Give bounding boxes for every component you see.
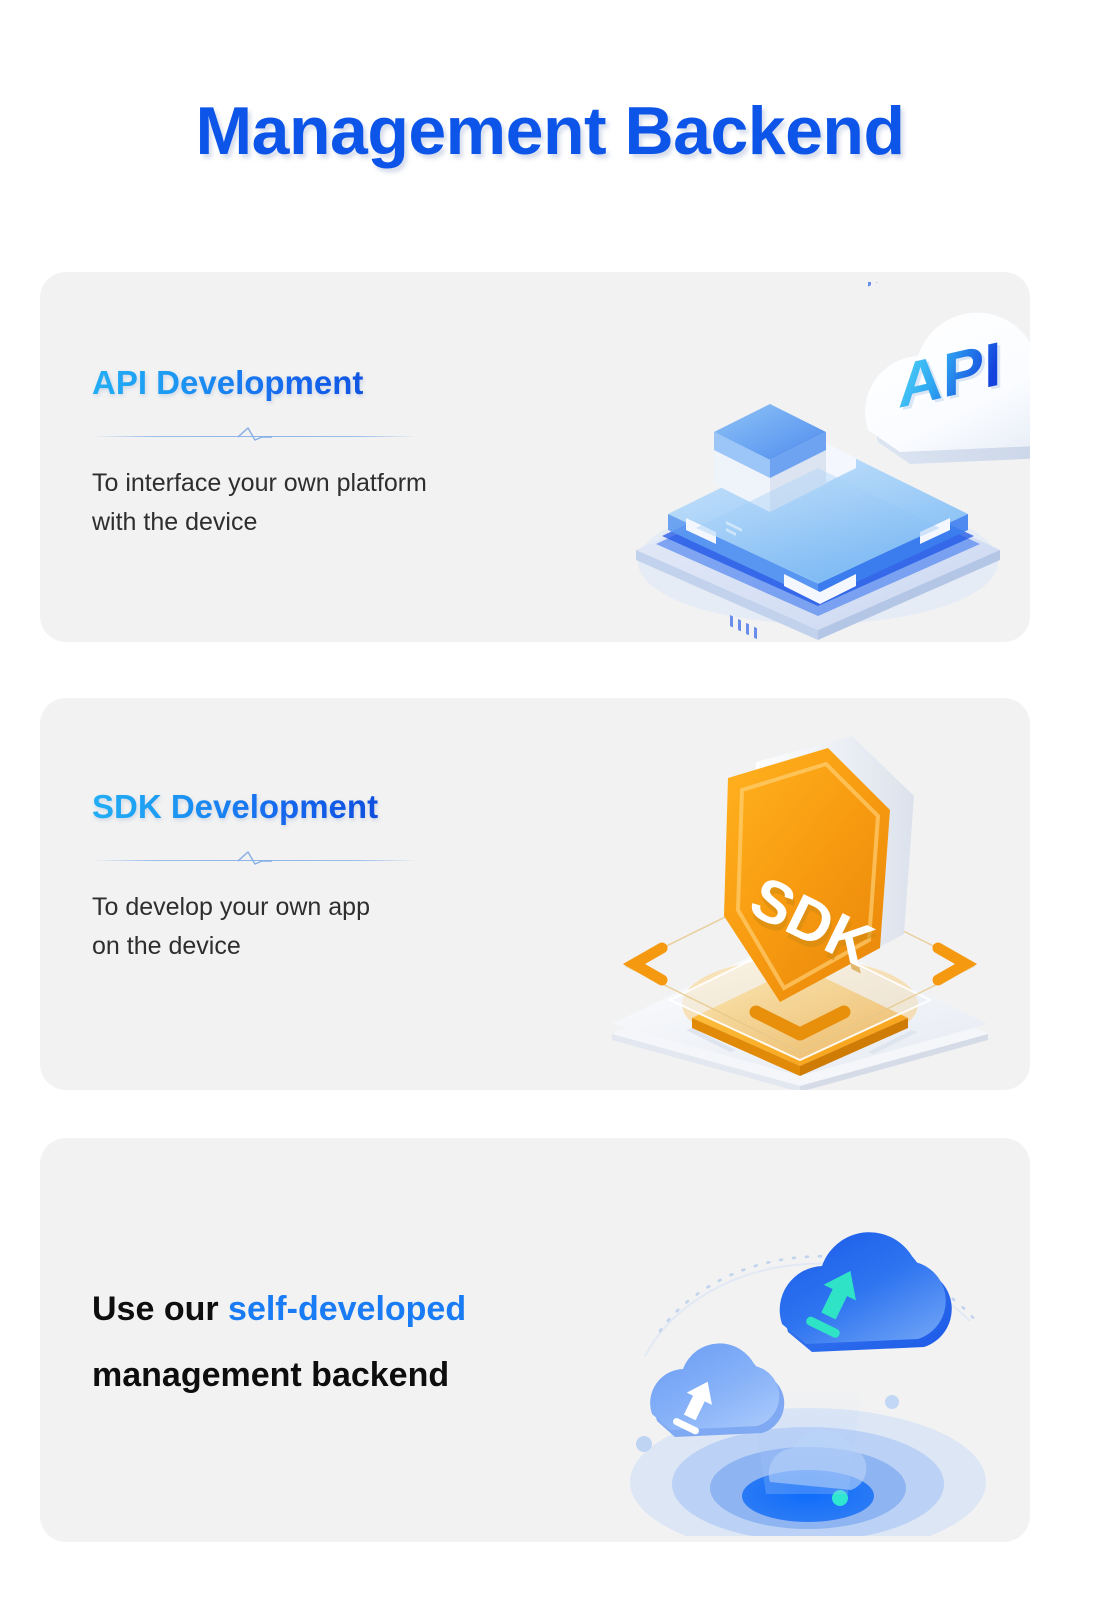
right-angle-bracket-icon xyxy=(938,948,966,980)
card-sdk-text-block: SDK Development To develop your own app … xyxy=(92,788,417,967)
card-sdk-body: To develop your own app on the device xyxy=(92,888,417,967)
zigzag-divider-icon xyxy=(238,424,272,447)
api-cloud-chip-illustration: API API xyxy=(568,282,1030,642)
card-api-body: To interface your own platform with the … xyxy=(92,464,427,543)
cloud-upload-large xyxy=(780,1232,952,1352)
feature-card-sdk[interactable]: SDK Development To develop your own app … xyxy=(40,698,1030,1090)
page-title: Management Backend xyxy=(0,92,1100,170)
card-backend-text-block: Use our self-developed management backen… xyxy=(92,1276,466,1409)
left-angle-bracket-icon xyxy=(634,948,662,980)
card-backend-line-1: Use our self-developed xyxy=(92,1276,466,1342)
card-api-text-block: API Development To interface your own pl… xyxy=(92,364,427,543)
card-api-divider xyxy=(92,424,417,442)
cloud-upload-small xyxy=(650,1343,784,1437)
card-sdk-divider xyxy=(92,848,417,866)
card-backend-line1-plain: Use our xyxy=(92,1290,228,1328)
sdk-hexagon-badge-illustration: SDK SDK xyxy=(590,704,1010,1090)
card-backend-line-2: management backend xyxy=(92,1342,466,1408)
feature-card-backend[interactable]: Use our self-developed management backen… xyxy=(40,1138,1030,1542)
feature-card-api[interactable]: API Development To interface your own pl… xyxy=(40,272,1030,642)
card-api-heading: API Development xyxy=(92,364,427,402)
card-backend-line1-highlight: self-developed xyxy=(228,1290,466,1328)
cloud-upload-illustration xyxy=(600,1146,1000,1536)
marketing-page: Management Backend API Development To in… xyxy=(0,0,1100,1614)
zigzag-divider-icon xyxy=(238,848,272,871)
card-sdk-heading: SDK Development xyxy=(92,788,417,826)
cloud-shape: API API xyxy=(865,313,1030,464)
